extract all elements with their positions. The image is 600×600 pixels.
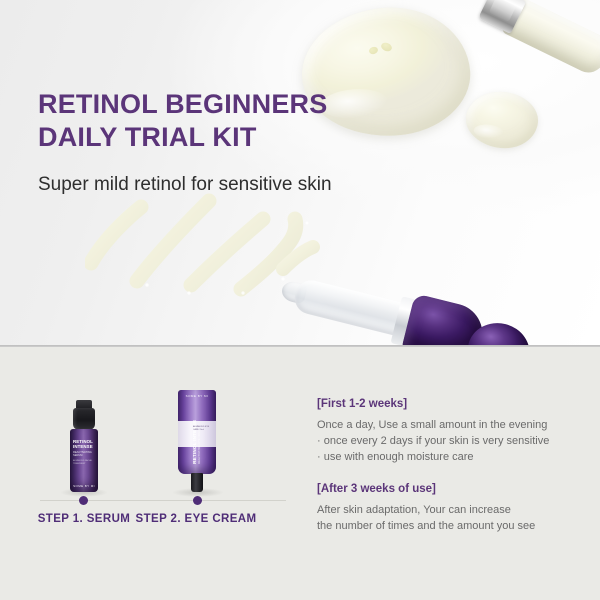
hero-copy: RETINOL BEGINNERS DAILY TRIAL KIT Super …	[38, 88, 358, 198]
product-detail-page: RETINOL BEGINNERS DAILY TRIAL KIT Super …	[0, 0, 600, 600]
page-title: RETINOL BEGINNERS DAILY TRIAL KIT	[38, 88, 358, 154]
instruction-block-first-weeks: [First 1-2 weeks] Once a day, Use a smal…	[317, 396, 579, 465]
eyecream-label-fineprint: ADVANCED EYE CARE 15ml	[193, 426, 213, 431]
metallic-cream-tube	[477, 0, 600, 78]
eyecream-tube-body: SOME BY MI RETINOL INTENSE REACTIVATING …	[178, 390, 216, 474]
instructions-panel: [First 1-2 weeks] Once a day, Use a smal…	[317, 396, 579, 534]
hero-section: RETINOL BEGINNERS DAILY TRIAL KIT Super …	[0, 0, 600, 347]
instruction-heading: [After 3 weeks of use]	[317, 481, 579, 497]
serum-label-title: RETINOL INTENSE	[73, 439, 95, 449]
product-serum-bottle: RETINOL INTENSE REACTIVATING SERUM ADVAN…	[68, 400, 100, 492]
cream-puddle-small	[463, 88, 540, 151]
serum-bottle-body: RETINOL INTENSE REACTIVATING SERUM ADVAN…	[70, 429, 98, 492]
serum-dropper-neck	[73, 408, 95, 430]
instruction-body: Once a day, Use a small amount in the ev…	[317, 417, 579, 465]
step-label-eye-cream: STEP 2. EYE CREAM	[112, 513, 280, 525]
steps-timeline	[40, 500, 286, 501]
serum-label-subtitle: REACTIVATING SERUM	[73, 451, 95, 457]
serum-label: RETINOL INTENSE REACTIVATING SERUM ADVAN…	[73, 439, 95, 466]
eyecream-nozzle-icon	[191, 473, 203, 492]
serum-brand-mark: SOME BY MI	[70, 484, 98, 488]
timeline-dot-step-2	[193, 496, 202, 505]
serum-label-fineprint: ADVANCED FACIAL TREATMENT	[73, 460, 95, 466]
product-eye-cream-tube: SOME BY MI RETINOL INTENSE REACTIVATING …	[178, 390, 216, 492]
instruction-body: After skin adaptation, Your can increase…	[317, 502, 579, 534]
timeline-dot-step-1	[79, 496, 88, 505]
instruction-block-after-three-weeks: [After 3 weeks of use] After skin adapta…	[317, 481, 579, 534]
instruction-heading: [First 1-2 weeks]	[317, 396, 579, 412]
hero-subtitle: Super mild retinol for sensitive skin	[38, 172, 358, 198]
glass-dropper-pipette	[281, 263, 536, 347]
